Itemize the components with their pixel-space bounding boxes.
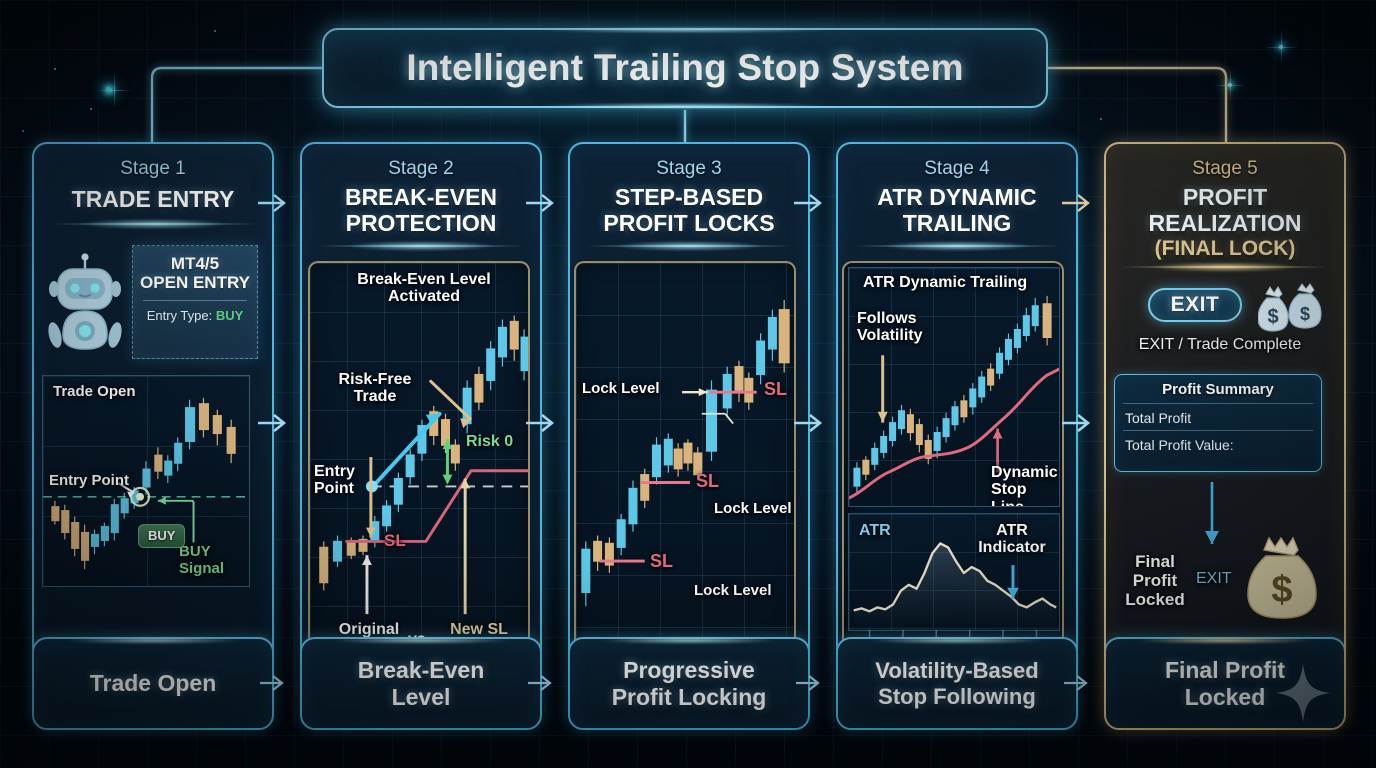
lock-level-mid-label: Lock Level	[714, 501, 792, 518]
stage-5-header: Stage 5 PROFIT REALIZATION (FINAL LOCK)	[1106, 144, 1344, 278]
flow-arrow-1-2-mid	[256, 410, 292, 436]
final-lock-area: Final Profit Locked EXIT $	[1114, 478, 1322, 660]
atr-indicator-label: ATR Indicator	[975, 522, 1049, 558]
page-title: Intelligent Trailing Stop System	[322, 28, 1048, 108]
ticket-line-2: OPEN ENTRY	[139, 273, 251, 292]
exit-button[interactable]: EXIT	[1148, 288, 1242, 322]
stage-3-title: STEP-BASED PROFIT LOCKS	[580, 185, 798, 237]
stage-panel-2[interactable]: Stage 2 BREAK-EVEN PROTECTION	[300, 142, 542, 730]
chart-grid	[310, 263, 528, 649]
flow-arrow-4-5-mid	[1060, 410, 1096, 436]
header-divider	[586, 245, 792, 247]
svg-text:$: $	[1271, 569, 1292, 611]
lock-level-top-label: Lock Level	[582, 381, 660, 398]
summary-row-total-profit: Total Profit	[1115, 404, 1321, 430]
sl-mid-label: SL	[696, 471, 719, 491]
stage-3-footer-text: Progressive Profit Locking	[612, 657, 767, 709]
flow-arrow-3-4-top	[792, 190, 828, 216]
flow-arrow-1-2-top	[256, 190, 292, 216]
footer-glow	[331, 637, 511, 644]
footer-glow	[63, 637, 243, 644]
star-dot	[22, 130, 24, 132]
stage-1-chart: Trade Open Entry Point BUY Signal BUY	[42, 375, 250, 587]
buy-signal-label: BUY Signal	[179, 544, 224, 578]
title-glow-bottom	[535, 103, 835, 109]
stage-5-footer: Final Profit Locked	[1104, 637, 1346, 730]
sl-top-label: SL	[764, 379, 787, 399]
star-dot	[108, 88, 112, 92]
dynamic-stop-label: Dynamic Stop Line	[991, 464, 1059, 507]
sparkle-icon	[1276, 664, 1330, 722]
stage-5-title: PROFIT REALIZATION	[1116, 185, 1334, 237]
stage-4-title: ATR DYNAMIC TRAILING	[848, 185, 1066, 237]
ticket-divider	[143, 300, 247, 301]
risk-free-label: Risk-Free Trade	[332, 371, 418, 407]
stage-4-price-pane: ATR Dynamic Trailing Follows Volatility …	[848, 267, 1060, 507]
stage-5-subtitle: (FINAL LOCK)	[1116, 237, 1334, 261]
profit-summary-heading: Profit Summary	[1115, 375, 1321, 403]
stage-5-footer-text: Final Profit Locked	[1165, 657, 1285, 709]
stage-1-footer: Trade Open	[32, 637, 274, 730]
stage-panel-1[interactable]: Stage 1 TRADE ENTRY	[32, 142, 274, 730]
stage-3-footer: Progressive Profit Locking	[568, 637, 810, 730]
stage-2-label: Stage 2	[312, 158, 530, 180]
stage-1-label: Stage 1	[44, 158, 262, 180]
follows-volatility-label: Follows Volatility	[857, 310, 923, 346]
flow-arrow-3-4-mid	[792, 410, 828, 436]
sl-label: SL	[384, 531, 406, 550]
stage-4-atr-pane: ATR ATR Indicator	[848, 513, 1060, 631]
money-bag-icon: $	[1244, 536, 1320, 622]
footer-glow	[867, 637, 1047, 644]
star-dot	[1228, 83, 1232, 87]
title-glow-top	[535, 27, 835, 33]
stage-3-header: Stage 3 STEP-BASED PROFIT LOCKS	[570, 144, 808, 257]
star-sparkle	[1215, 70, 1245, 100]
flow-arrow-4-5-top	[1060, 190, 1096, 216]
stage-2-footer-text: Break-Even Level	[358, 657, 485, 709]
header-divider	[50, 223, 256, 225]
stage-3-label: Stage 3	[580, 158, 798, 180]
stage-4-chart-title: ATR Dynamic Trailing	[863, 274, 1027, 292]
star-sparkle	[96, 72, 132, 108]
page-title-text: Intelligent Trailing Stop System	[406, 47, 963, 89]
buy-badge: BUY	[138, 524, 185, 548]
star-dot	[1279, 45, 1283, 49]
flow-arrow-1-2-footer	[258, 672, 288, 694]
entry-type-value: BUY	[216, 308, 243, 323]
exit-caption: EXIT / Trade Complete	[1116, 336, 1324, 354]
stage-4-footer-text: Volatility-Based Stop Following	[875, 658, 1038, 708]
flow-arrow-2-3-top	[524, 190, 560, 216]
stage-4-footer: Volatility-Based Stop Following	[836, 637, 1078, 730]
stage-4-header: Stage 4 ATR DYNAMIC TRAILING	[838, 144, 1076, 257]
svg-text:$: $	[1300, 304, 1310, 324]
stage-1-footer-text: Trade Open	[90, 670, 217, 696]
star-dot	[106, 87, 111, 92]
entry-type-row: Entry Type: BUY	[139, 308, 251, 323]
stage-1-header: Stage 1 TRADE ENTRY	[34, 144, 272, 235]
stage-4-chart-wrap: ATR Dynamic Trailing Follows Volatility …	[842, 261, 1064, 651]
atr-pane-label: ATR	[859, 522, 891, 540]
profit-summary-box: Profit Summary Total Profit Total Profit…	[1114, 374, 1322, 472]
flow-arrow-2-3-footer	[526, 672, 556, 694]
star-sparkle	[1264, 30, 1298, 64]
svg-text:$: $	[1267, 306, 1278, 328]
ticket-line-1: MT4/5	[139, 254, 251, 273]
header-divider	[854, 245, 1060, 247]
diagram-canvas: Intelligent Trailing Stop System Stage 1…	[0, 0, 1376, 768]
star-dot	[1100, 118, 1102, 120]
stage-2-title: BREAK-EVEN PROTECTION	[312, 185, 530, 237]
robot-icon	[46, 253, 124, 353]
flow-arrow-4-5-footer	[1062, 672, 1092, 694]
money-bags-icon: $ $	[1258, 280, 1326, 332]
stage-panel-3[interactable]: Stage 3 STEP-BASED PROFIT LOCKS	[568, 142, 810, 730]
break-even-label: Break-Even Level Activated	[336, 271, 512, 307]
summary-row-total-profit-value: Total Profit Value:	[1115, 431, 1321, 457]
flow-arrow-3-4-footer	[794, 672, 824, 694]
header-divider	[318, 245, 524, 247]
header-divider	[1122, 266, 1328, 268]
stage-1-chart-title: Trade Open	[53, 384, 136, 401]
entry-point-label: Entry Point	[49, 473, 129, 490]
star-dot	[214, 30, 216, 32]
footer-glow	[1135, 637, 1315, 644]
stage-3-chart: Lock Level SL SL Lock Level SL Lock Leve…	[574, 261, 796, 651]
stage-1-title: TRADE ENTRY	[44, 187, 262, 213]
flow-arrow-2-3-mid	[524, 410, 560, 436]
stage-2-chart: Break-Even Level Activated Risk-Free Tra…	[308, 261, 530, 651]
lock-level-low-label: Lock Level	[694, 583, 772, 600]
stage-2-header: Stage 2 BREAK-EVEN PROTECTION	[302, 144, 540, 257]
footer-glow	[599, 637, 779, 644]
stage-panel-5[interactable]: Stage 5 PROFIT REALIZATION (FINAL LOCK) …	[1104, 142, 1346, 730]
final-profit-locked-label: Final Profit Locked	[1116, 552, 1194, 609]
final-exit-label: EXIT	[1196, 570, 1232, 588]
risk-zero-label: Risk 0	[466, 433, 513, 451]
stage-2-footer: Break-Even Level	[300, 637, 542, 730]
entry-point-label: Entry Point	[314, 463, 355, 499]
sl-low-label: SL	[650, 551, 673, 571]
stage-panel-4[interactable]: Stage 4 ATR DYNAMIC TRAILING	[836, 142, 1078, 730]
stage-5-label: Stage 5	[1116, 158, 1334, 180]
stage-4-label: Stage 4	[848, 158, 1066, 180]
exit-button-label: EXIT	[1171, 293, 1220, 317]
open-entry-ticket: MT4/5 OPEN ENTRY Entry Type: BUY	[132, 245, 258, 359]
star-dot	[90, 108, 92, 110]
entry-type-label: Entry Type:	[147, 308, 213, 323]
buy-badge-label: BUY	[148, 528, 175, 543]
star-dot	[54, 68, 56, 70]
